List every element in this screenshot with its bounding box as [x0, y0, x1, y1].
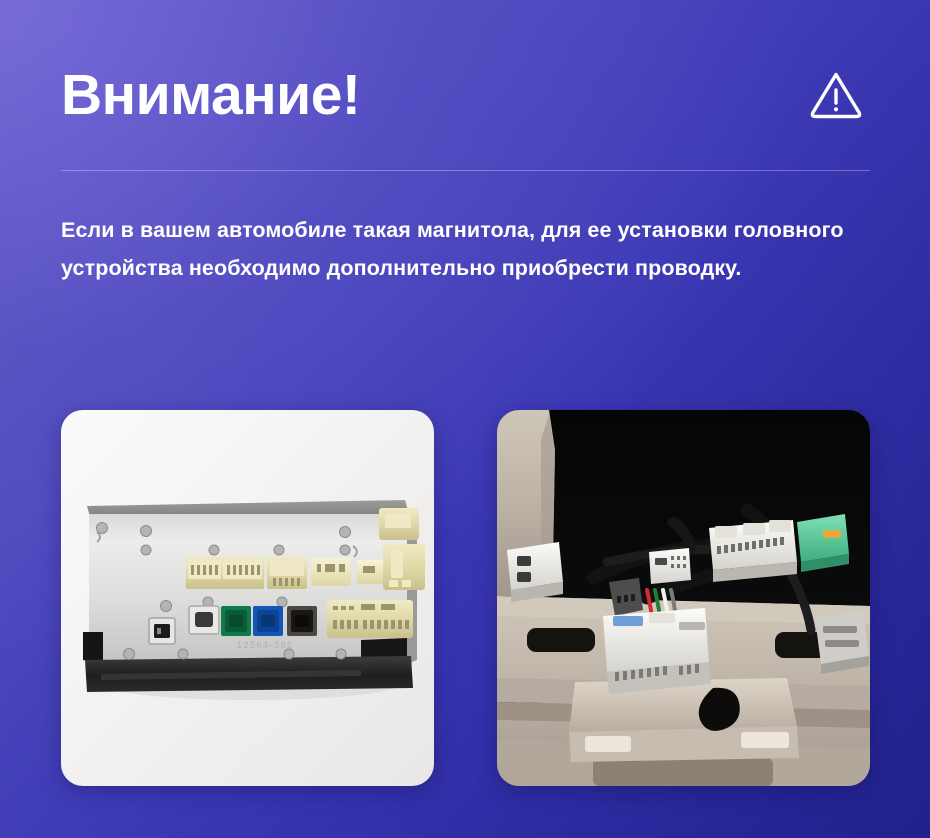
card-wiring-harness — [497, 410, 870, 786]
warning-slide: Внимание! Если в вашем автомобиле такая … — [0, 0, 930, 838]
car-head-unit-rear-photo: 12564-386 — [61, 410, 434, 786]
body-text: Если в вашем автомобиле такая магнитола,… — [61, 211, 873, 287]
svg-text:12564-386: 12564-386 — [237, 640, 294, 650]
page-title: Внимание! — [61, 67, 360, 124]
dashboard-wiring-harness-photo — [497, 410, 870, 786]
slide-header: Внимание! — [61, 52, 870, 138]
warning-triangle-icon — [808, 67, 864, 123]
header-divider — [61, 170, 870, 171]
image-gallery: 12564-386 — [61, 410, 870, 786]
card-head-unit: 12564-386 — [61, 410, 434, 786]
